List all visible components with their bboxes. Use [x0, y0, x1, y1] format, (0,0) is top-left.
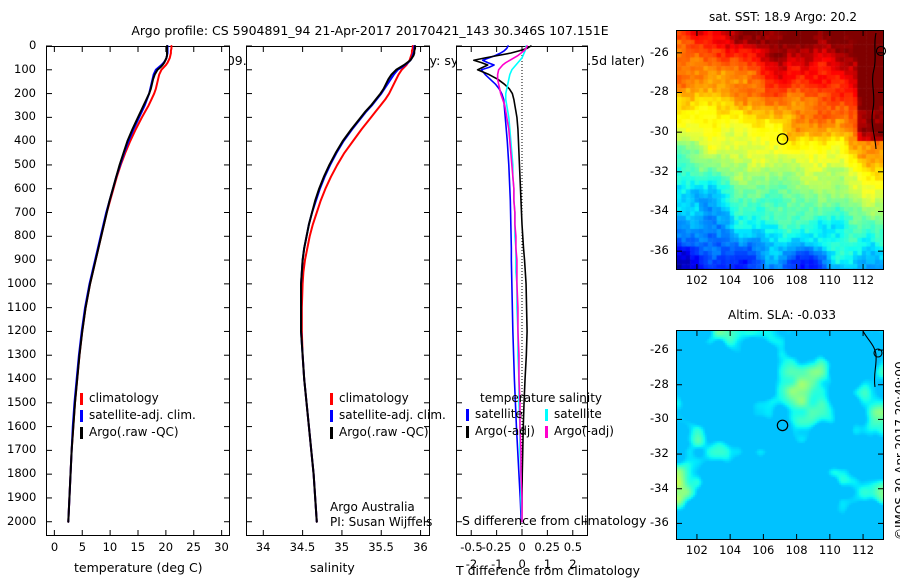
temperature-profile-plot [46, 46, 230, 536]
x-tick-label: 0 [51, 540, 58, 554]
s-difference-tick-label: 0 [519, 540, 526, 554]
longitude-tick-label: 108 [786, 543, 808, 557]
depth-tick-label: 2000 [7, 514, 36, 528]
x-tick-label: 25 [186, 540, 201, 554]
latitude-tick-label: -28 [650, 84, 669, 98]
legend-title: temperature [480, 391, 555, 405]
s-difference-tick-label: 0.25 [534, 540, 560, 554]
x-tick-label: 30 [214, 540, 229, 554]
latitude-tick-label: -36 [650, 243, 669, 257]
sst-map-overlay [677, 31, 883, 269]
s-difference-tick-label: -0.5 [460, 540, 482, 554]
latitude-tick-label: -32 [650, 164, 669, 178]
salinity-profile-plot [246, 46, 430, 536]
legend-label: satellite [554, 407, 602, 421]
legend-color-swatch [330, 393, 333, 405]
depth-tick-label: 600 [14, 181, 36, 195]
depth-tick-label: 1200 [7, 323, 36, 337]
legend-color-swatch [80, 393, 83, 405]
latitude-tick-label: -32 [650, 446, 669, 460]
x-tick-label: 20 [158, 540, 173, 554]
depth-tick-label: 1900 [7, 490, 36, 504]
argo-australia-annotation: Argo Australia PI: Susan Wijffels [330, 500, 432, 530]
depth-tick-label: 0 [29, 38, 36, 52]
latitude-tick-label: -34 [650, 203, 669, 217]
x-tick-label: 10 [103, 540, 118, 554]
legend-color-swatch [466, 426, 469, 438]
depth-tick-label: 1000 [7, 276, 36, 290]
latitude-tick-label: -26 [650, 342, 669, 356]
legend-label: Argo(-adj) [475, 424, 535, 438]
annotation-line-2: PI: Susan Wijffels [330, 515, 432, 529]
latitude-tick-label: -30 [650, 124, 669, 138]
longitude-tick-label: 112 [852, 273, 874, 287]
depth-tick-label: 1700 [7, 442, 36, 456]
legend-label: climatology [89, 391, 159, 405]
legend-color-swatch [545, 426, 548, 438]
depth-tick-label: 800 [14, 228, 36, 242]
depth-tick-label: 300 [14, 109, 36, 123]
legend-color-swatch [80, 410, 83, 422]
x-tick-label: 5 [79, 540, 86, 554]
latitude-tick-label: -34 [650, 481, 669, 495]
depth-tick-label: 1100 [7, 300, 36, 314]
annotation-line-1: Argo Australia [330, 500, 415, 514]
x-tick-label: 15 [131, 540, 146, 554]
longitude-tick-label: 108 [786, 273, 808, 287]
depth-tick-label: 900 [14, 252, 36, 266]
longitude-tick-label: 106 [752, 543, 774, 557]
longitude-tick-label: 104 [719, 543, 741, 557]
depth-tick-label: 1600 [7, 419, 36, 433]
latitude-tick-label: -36 [650, 515, 669, 529]
depth-tick-label: 700 [14, 205, 36, 219]
legend-label: satellite-adj. clim. [339, 408, 446, 422]
latitude-tick-label: -30 [650, 411, 669, 425]
legend-color-swatch [466, 409, 469, 421]
copyright-text: ©IMOS 30-Apr-2017 20:49:00 [893, 361, 900, 540]
longitude-tick-label: 112 [852, 543, 874, 557]
legend-color-swatch [330, 410, 333, 422]
depth-tick-label: 200 [14, 86, 36, 100]
x-tick-label: 36 [413, 540, 428, 554]
difference-bottom-axis-label: T difference from climatology [456, 563, 640, 578]
legend-title: salinity [559, 391, 602, 405]
depth-tick-label: 1300 [7, 347, 36, 361]
legend-label: Argo(-adj) [554, 424, 614, 438]
depth-tick-label: 1500 [7, 395, 36, 409]
longitude-tick-label: 106 [752, 273, 774, 287]
depth-tick-label: 100 [14, 62, 36, 76]
depth-tick-label: 400 [14, 133, 36, 147]
legend-label: climatology [339, 391, 409, 405]
longitude-tick-label: 110 [819, 543, 841, 557]
legend-color-swatch [330, 427, 333, 439]
legend-label: Argo(.raw -QC) [339, 425, 429, 439]
title-line-1: Argo profile: CS 5904891_94 21-Apr-2017 … [131, 23, 608, 38]
latitude-tick-label: -28 [650, 377, 669, 391]
s-difference-tick-label: 0.5 [564, 540, 582, 554]
difference-profile-plot [456, 46, 588, 536]
depth-tick-label: 500 [14, 157, 36, 171]
longitude-tick-label: 102 [686, 543, 708, 557]
x-tick-label: 34.5 [290, 540, 316, 554]
legend-label: Argo(.raw -QC) [89, 425, 179, 439]
temperature-axis-label: temperature (deg C) [74, 560, 203, 575]
difference-top-axis-label: S difference from climatology [462, 513, 646, 528]
sla-title-line-1: Altim. SLA: -0.033 [728, 308, 836, 322]
sst-map-title: sat. SST: 18.9 Argo: 20.2 [678, 10, 888, 25]
s-difference-tick-label: -0.25 [482, 540, 512, 554]
legend-label: satellite-adj. clim. [89, 408, 196, 422]
x-tick-label: 35.5 [368, 540, 394, 554]
depth-tick-label: 1400 [7, 371, 36, 385]
longitude-tick-label: 110 [819, 273, 841, 287]
latitude-tick-label: -26 [650, 45, 669, 59]
legend-label: satellite [475, 407, 523, 421]
x-tick-label: 35 [334, 540, 349, 554]
legend-color-swatch [545, 409, 548, 421]
legend-color-swatch [80, 427, 83, 439]
depth-tick-label: 1800 [7, 466, 36, 480]
longitude-tick-label: 104 [719, 273, 741, 287]
x-tick-label: 34 [256, 540, 271, 554]
sla-map-overlay [677, 331, 883, 539]
longitude-tick-label: 102 [686, 273, 708, 287]
salinity-axis-label: salinity [310, 560, 355, 575]
